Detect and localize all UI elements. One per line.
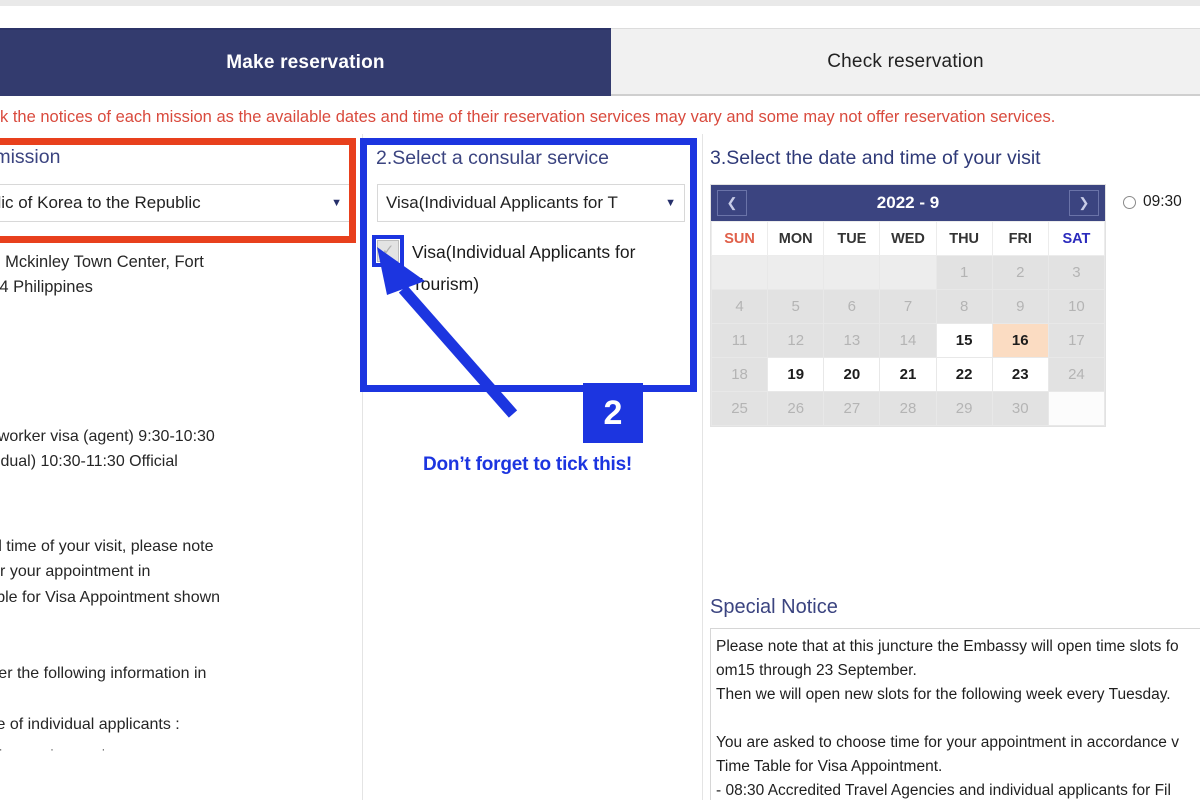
calendar-day-disabled — [824, 256, 880, 290]
notices-title: tices — [0, 508, 376, 534]
calendar-day-available[interactable]: 22 — [936, 358, 992, 392]
mission-select-value: the Republic of Korea to the Republic — [0, 193, 201, 213]
mission-address: inley Road, Mckinley Town Center, Fort i… — [0, 250, 368, 300]
mission-timetable-text: im, Business or worker visa (agent) 9:30… — [0, 424, 364, 499]
weekday-fri: FRI — [992, 222, 1048, 256]
weekday-sat: SAT — [1048, 222, 1104, 256]
reservation-tabbar: Make reservation Check reservation — [0, 28, 1200, 96]
calendar-day-disabled: 4 — [712, 290, 768, 324]
calendar-week-row: 252627282930 — [712, 392, 1105, 426]
mission-select[interactable]: the Republic of Korea to the Republic ▼ — [0, 184, 351, 222]
time-slot-list: 09:30 — [1123, 184, 1200, 220]
consular-service-select[interactable]: Visa(Individual Applicants for T ▼ — [377, 184, 685, 222]
tab-check-reservation[interactable]: Check reservation — [611, 28, 1200, 96]
page-root: Make reservation Check reservation k the… — [0, 0, 1200, 800]
calendar-day-disabled: 30 — [992, 392, 1048, 426]
calendar-week-row: 123 — [712, 256, 1105, 290]
special-notice-heading: Special Notice — [710, 596, 838, 619]
calendar-day-disabled: 13 — [824, 324, 880, 358]
annotation-tick-note: Don’t forget to tick this! — [423, 454, 632, 476]
calendar-day-disabled: 1 — [936, 256, 992, 290]
calendar-week-row: 18192021222324 — [712, 358, 1105, 392]
calendar-day-available[interactable]: 15 — [936, 324, 992, 358]
weekday-thu: THU — [936, 222, 992, 256]
truncated-dots: · · · · · — [0, 737, 376, 763]
mission-notice-banner: k the notices of each mission as the ava… — [0, 100, 1200, 134]
panel1-heading: iplomatic mission — [0, 146, 352, 169]
calendar-day-disabled: 3 — [1048, 256, 1104, 290]
calendar-day-disabled: 17 — [1048, 324, 1104, 358]
calendar-day-disabled: 5 — [768, 290, 824, 324]
tab-make-reservation[interactable]: Make reservation — [0, 28, 611, 96]
special-requests-body: re that you enter the following informat… — [0, 661, 376, 738]
radio-icon[interactable] — [1123, 196, 1136, 209]
calendar-weekday-row: SUN MON TUE WED THU FRI SAT — [712, 222, 1105, 256]
calendar-day-disabled: 28 — [880, 392, 936, 426]
page-top-whitespace — [0, 6, 1200, 28]
notices-body: ct the date and time of your visit, plea… — [0, 534, 376, 636]
calendar-body: 1234567891011121314151617181920212223242… — [712, 256, 1105, 426]
panel-select-datetime: 3.Select the date and time of your visit… — [703, 134, 1200, 800]
calendar-day-disabled: 24 — [1048, 358, 1104, 392]
calendar-grid: SUN MON TUE WED THU FRI SAT 123456789101… — [711, 221, 1105, 426]
weekday-mon: MON — [768, 222, 824, 256]
calendar-day-disabled — [1048, 392, 1104, 426]
tab-check-reservation-label: Check reservation — [827, 51, 984, 73]
calendar: ❮ 2022 - 9 ❯ SUN MON TUE WED THU FRI SAT… — [710, 184, 1106, 427]
calendar-day-disabled: 27 — [824, 392, 880, 426]
calendar-title: 2022 - 9 — [747, 193, 1069, 213]
three-column-body: iplomatic mission the Republic of Korea … — [0, 134, 1200, 800]
panel3-heading: 3.Select the date and time of your visit — [710, 147, 1041, 170]
weekday-wed: WED — [880, 222, 936, 256]
calendar-week-row: 11121314151617 — [712, 324, 1105, 358]
weekday-tue: TUE — [824, 222, 880, 256]
consular-service-select-value: Visa(Individual Applicants for T — [386, 193, 618, 213]
consular-service-checkbox-label: Visa(Individual Applicants for Tourism) — [412, 236, 687, 300]
calendar-header: ❮ 2022 - 9 ❯ — [711, 185, 1105, 221]
calendar-day-disabled: 10 — [1048, 290, 1104, 324]
time-slot-option[interactable]: 09:30 — [1123, 184, 1200, 220]
calendar-day-disabled: 12 — [768, 324, 824, 358]
calendar-day-available[interactable]: 19 — [768, 358, 824, 392]
chevron-left-icon[interactable]: ❮ — [717, 190, 747, 216]
chevron-right-icon[interactable]: ❯ — [1069, 190, 1099, 216]
calendar-day-disabled: 25 — [712, 392, 768, 426]
calendar-day-disabled — [712, 256, 768, 290]
panel2-heading: 2.Select a consular service — [376, 147, 609, 170]
annotation-step-badge: 2 — [583, 383, 643, 443]
calendar-day-disabled — [880, 256, 936, 290]
chevron-down-icon: ▼ — [665, 197, 676, 209]
time-slot-label: 09:30 — [1143, 193, 1182, 211]
calendar-day-available[interactable]: 16 — [992, 324, 1048, 358]
calendar-week-row: 45678910 — [712, 290, 1105, 324]
calendar-day-available[interactable]: 21 — [880, 358, 936, 392]
consular-service-checkbox[interactable]: ✓ — [377, 240, 399, 262]
chevron-down-icon: ▼ — [331, 197, 342, 209]
weekday-sun: SUN — [712, 222, 768, 256]
calendar-day-available[interactable]: 20 — [824, 358, 880, 392]
calendar-day-disabled: 14 — [880, 324, 936, 358]
panel-select-mission: iplomatic mission the Republic of Korea … — [0, 134, 362, 800]
calendar-day-disabled: 6 — [824, 290, 880, 324]
calendar-day-disabled: 8 — [936, 290, 992, 324]
calendar-day-disabled: 11 — [712, 324, 768, 358]
special-notice-body: Please note that at this juncture the Em… — [710, 628, 1200, 800]
mission-notice-text: k the notices of each mission as the ava… — [0, 108, 1055, 127]
tab-make-reservation-label: Make reservation — [226, 52, 384, 74]
panel-select-service: 2.Select a consular service Visa(Individ… — [363, 134, 702, 800]
calendar-day-disabled — [768, 256, 824, 290]
mission-notices-block: tices ct the date and time of your visit… — [0, 508, 376, 763]
calendar-day-disabled: 29 — [936, 392, 992, 426]
calendar-day-available[interactable]: 23 — [992, 358, 1048, 392]
calendar-day-disabled: 26 — [768, 392, 824, 426]
calendar-day-disabled: 2 — [992, 256, 1048, 290]
calendar-day-disabled: 9 — [992, 290, 1048, 324]
calendar-day-disabled: 18 — [712, 358, 768, 392]
calendar-day-disabled: 7 — [880, 290, 936, 324]
